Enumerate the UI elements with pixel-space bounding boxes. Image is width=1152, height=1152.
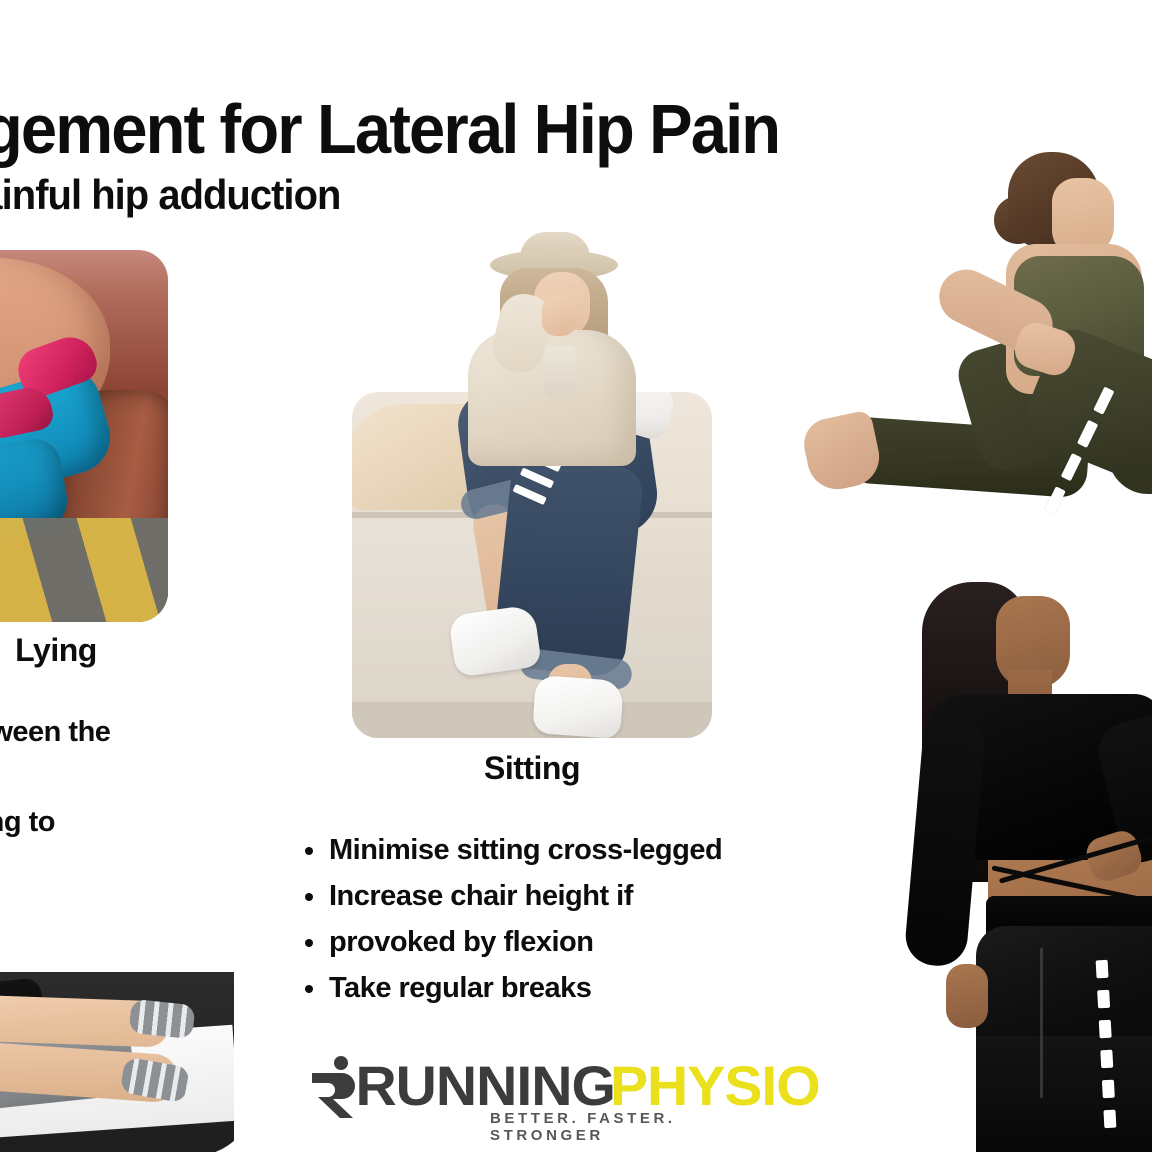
list-item: Minimise sitting cross-legged	[303, 828, 803, 872]
white-sneaker-lower	[532, 675, 624, 738]
list-item: Pillow between the knees	[0, 710, 134, 798]
caption-lying: Lying	[0, 632, 166, 669]
logo-word-physio: PHYSIO	[610, 1058, 820, 1114]
caption-sitting: Sitting	[352, 750, 712, 787]
list-item: Take regular breaks	[303, 966, 803, 1010]
list-item-cont: in side lying to reduce	[0, 800, 134, 888]
cup	[544, 346, 576, 398]
list-item-cont: provoked by flexion	[303, 920, 803, 964]
seated-stretch-photo	[808, 148, 1152, 538]
left-arm	[903, 714, 987, 968]
logo-wordmark-row: RUNNING PHYSIO	[304, 1054, 818, 1118]
sitting-model-upper-body	[438, 238, 634, 458]
side-lying-on-sofa-photo	[0, 250, 168, 622]
supine-pillow-between-knees-photo	[0, 916, 234, 1152]
left-hand	[946, 964, 988, 1028]
page-title: Management for Lateral Hip Pain	[0, 92, 866, 166]
standing-hip-hitch-photo	[892, 566, 1152, 1152]
hand	[542, 296, 576, 336]
floor-strip	[352, 702, 712, 738]
checkered-rug	[0, 518, 168, 622]
bullet-list-sitting: Minimise sitting cross-legged Increase c…	[303, 828, 803, 1012]
infographic-canvas: Management for Lateral Hip Pain Modify p…	[0, 0, 1152, 1152]
page-subtitle: Modify painful hip adduction	[0, 172, 888, 218]
logo-word-running: RUNNING	[355, 1058, 614, 1114]
trouser-legs	[976, 1036, 1152, 1152]
sock-upper	[128, 999, 195, 1040]
white-sneaker-upper	[448, 604, 542, 677]
runner-icon	[304, 1054, 362, 1118]
list-item: Increase chair height if	[303, 874, 803, 918]
logo-tagline: BETTER. FASTER. STRONGER	[490, 1110, 794, 1144]
running-physio-logo[interactable]: RUNNING PHYSIO BETTER. FASTER. STRONGER	[304, 1044, 794, 1128]
trouser-seam	[1040, 948, 1043, 1098]
